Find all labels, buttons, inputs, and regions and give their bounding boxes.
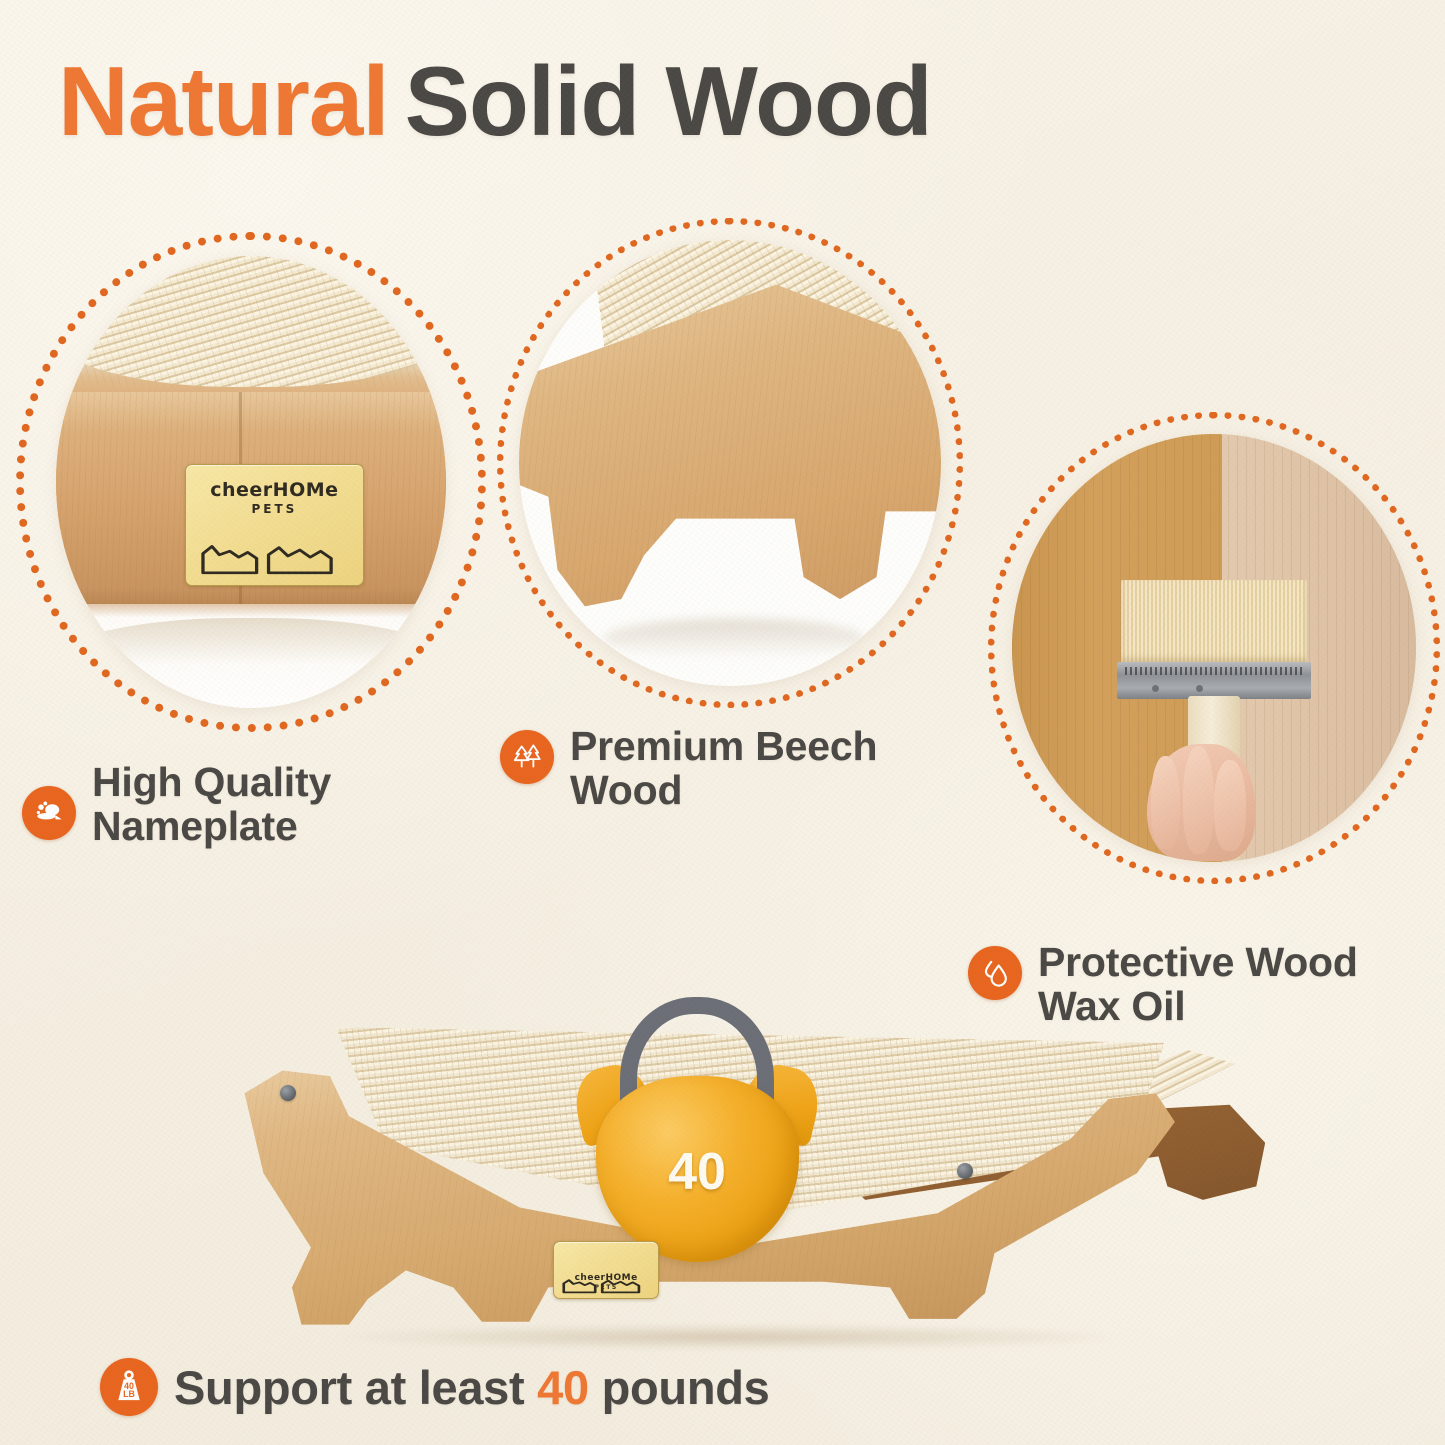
photo-beech-wood-closeup bbox=[519, 240, 941, 686]
photo-wax-oil-application bbox=[1012, 434, 1416, 862]
infographic-page: NaturalSolid Wood cheerHOMe PETS bbox=[0, 0, 1445, 1445]
kettlebell-40lb: 40 bbox=[573, 997, 820, 1262]
page-title-accent: Natural bbox=[58, 46, 389, 156]
kettlebell-weight-value: 40 bbox=[668, 1142, 726, 1202]
sparkle-polish-icon bbox=[22, 786, 76, 840]
feature-label-nameplate: High Quality Nameplate bbox=[22, 760, 331, 849]
caption-text: Support at least 40 pounds bbox=[174, 1360, 769, 1415]
product-brand-nameplate: cheerHOMe PETS bbox=[553, 1241, 659, 1299]
weight-badge-unit: LB bbox=[123, 1389, 135, 1399]
weight-40lb-icon: 40 LB bbox=[100, 1358, 158, 1416]
feature-photo-frame-nameplate: cheerHOMe PETS bbox=[16, 232, 486, 732]
brush-bristles bbox=[1121, 580, 1307, 662]
page-title: NaturalSolid Wood bbox=[58, 52, 932, 150]
human-hand bbox=[1147, 744, 1255, 861]
caption-highlight: 40 bbox=[537, 1361, 589, 1414]
water-droplet-icon bbox=[968, 946, 1022, 1000]
product-photo-cat-scratcher: 40 cheerHOMe PETS bbox=[235, 1000, 1245, 1340]
cat-silhouette-decoration bbox=[562, 1279, 649, 1294]
page-title-main: Solid Wood bbox=[405, 46, 932, 156]
finger bbox=[1214, 760, 1246, 851]
brand-nameplate: cheerHOMe PETS bbox=[185, 464, 364, 586]
feature-photo-frame-beech bbox=[497, 218, 963, 708]
feature-label-text: Premium Beech Wood bbox=[570, 724, 877, 813]
photo-nameplate-closeup: cheerHOMe PETS bbox=[56, 256, 446, 708]
cat-silhouette-decoration bbox=[200, 544, 349, 575]
floor-surface bbox=[56, 618, 446, 708]
brush-ferrule bbox=[1117, 662, 1310, 699]
support-weight-caption: 40 LB Support at least 40 pounds bbox=[100, 1358, 769, 1416]
feature-label-beech: Premium Beech Wood bbox=[500, 724, 877, 813]
nameplate-sub-text: PETS bbox=[251, 502, 297, 516]
product-drop-shadow bbox=[326, 1324, 1134, 1350]
drop-shadow bbox=[603, 619, 865, 659]
finger bbox=[1151, 756, 1180, 849]
feature-photo-frame-waxoil bbox=[988, 412, 1440, 884]
paint-brush bbox=[1121, 580, 1307, 845]
caption-suffix: pounds bbox=[602, 1361, 770, 1414]
nameplate-brand-text: cheerHOMe bbox=[210, 479, 338, 501]
sisal-weave-texture bbox=[56, 256, 446, 387]
kettlebell-body: 40 bbox=[596, 1076, 799, 1262]
pine-trees-icon bbox=[500, 730, 554, 784]
caption-prefix: Support at least bbox=[174, 1361, 524, 1414]
feature-label-text: High Quality Nameplate bbox=[92, 760, 331, 849]
finger bbox=[1183, 746, 1214, 853]
